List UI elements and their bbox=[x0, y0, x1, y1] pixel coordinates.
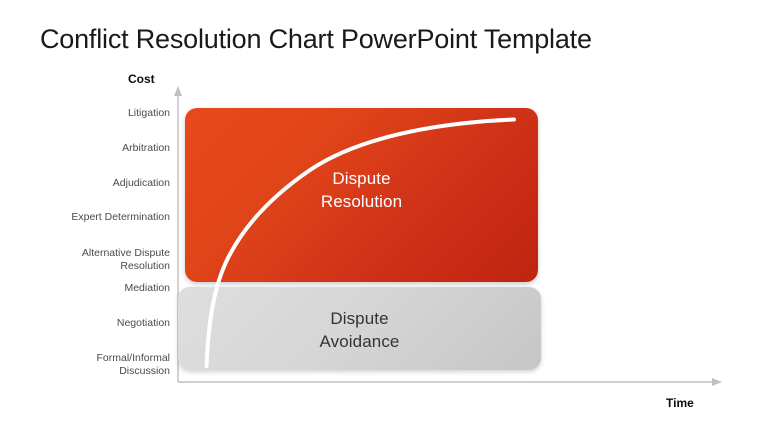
y-axis-label: Cost bbox=[128, 72, 155, 86]
dispute-avoidance-label: Dispute Avoidance bbox=[320, 307, 400, 353]
y-tick-arbitration: Arbitration bbox=[122, 142, 170, 155]
y-tick-expert-determination: Expert Determination bbox=[71, 211, 170, 224]
y-tick-alternative-dispute-resolution: Alternative Dispute Resolution bbox=[82, 247, 170, 272]
arrow-right-icon bbox=[712, 378, 722, 386]
y-tick-litigation: Litigation bbox=[128, 107, 170, 120]
x-axis-label: Time bbox=[666, 396, 694, 410]
slide-canvas: Conflict Resolution Chart PowerPoint Tem… bbox=[0, 0, 768, 432]
y-tick-formal-informal-discussion: Formal/Informal Discussion bbox=[96, 352, 170, 377]
dispute-resolution-block[interactable]: Dispute Resolution bbox=[185, 108, 538, 282]
y-tick-adjudication: Adjudication bbox=[113, 177, 170, 190]
dispute-resolution-label: Dispute Resolution bbox=[321, 167, 402, 213]
y-tick-negotiation: Negotiation bbox=[117, 317, 170, 330]
page-title: Conflict Resolution Chart PowerPoint Tem… bbox=[40, 24, 592, 55]
dispute-avoidance-block[interactable]: Dispute Avoidance bbox=[178, 287, 541, 370]
y-tick-mediation: Mediation bbox=[124, 282, 170, 295]
arrow-up-icon bbox=[174, 86, 182, 96]
